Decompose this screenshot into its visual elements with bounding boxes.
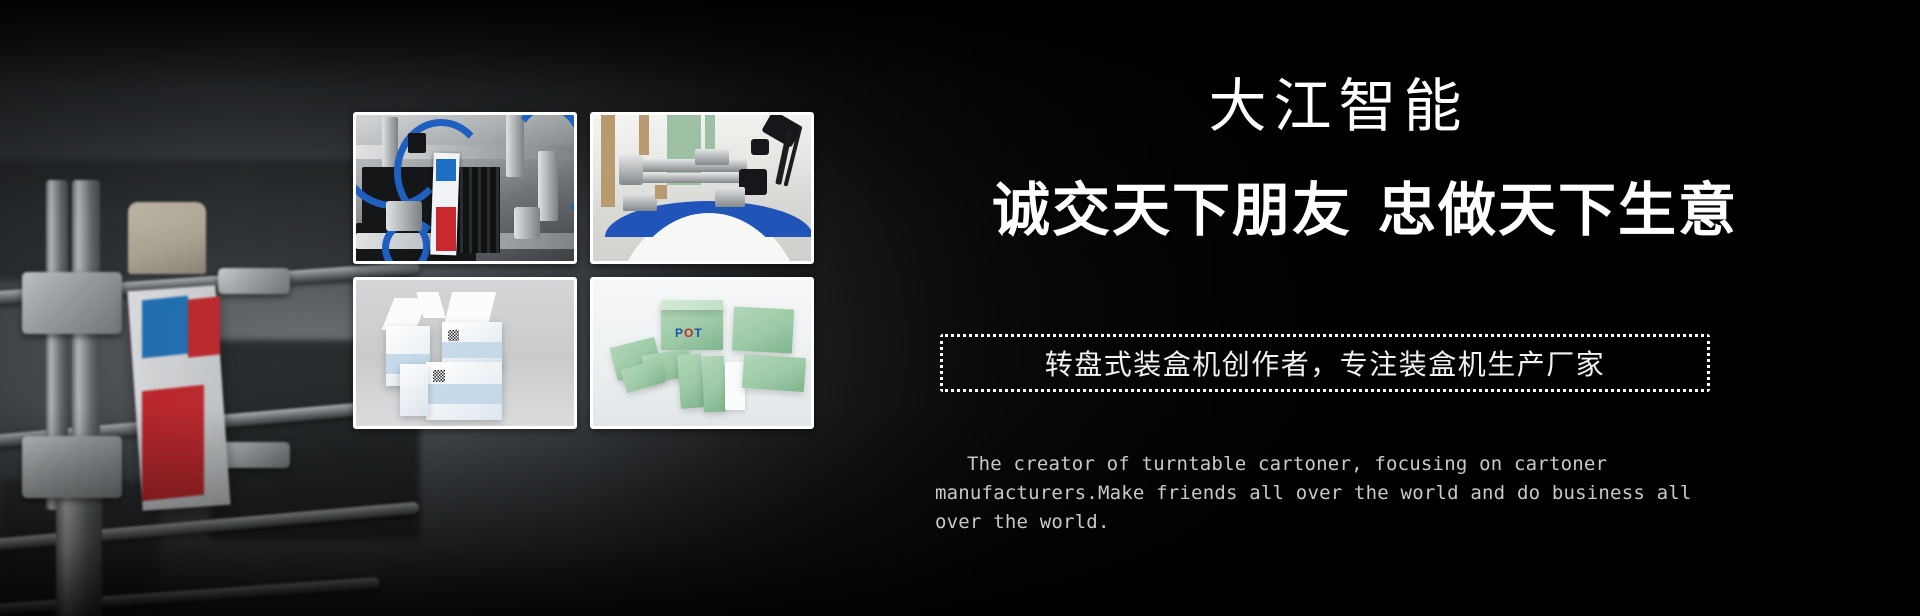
thumbnail-white-cartons[interactable] bbox=[353, 277, 577, 429]
headline-part-right: 忠做天下生意 bbox=[1378, 176, 1738, 244]
headline: 诚交天下朋友忠做天下生意 bbox=[850, 178, 1880, 243]
product-thumbnail-grid: POT bbox=[353, 112, 814, 428]
thumbnail-cartoner-machine[interactable] bbox=[353, 112, 577, 264]
tagline-dotted-box: 转盘式装盒机创作者，专注装盒机生产厂家 bbox=[940, 334, 1710, 392]
english-description: The creator of turntable cartoner, focus… bbox=[935, 450, 1725, 537]
promo-banner: POT 大江智能 诚交天下朋友忠做天下生意 转盘式装盒机创作者，专注装盒机生产厂… bbox=[0, 0, 1920, 616]
headline-part-left: 诚交天下朋友 bbox=[992, 176, 1352, 244]
banner-text-column: 大江智能 诚交天下朋友忠做天下生意 转盘式装盒机创作者，专注装盒机生产厂家 Th… bbox=[840, 0, 1920, 616]
tagline-text: 转盘式装盒机创作者，专注装盒机生产厂家 bbox=[1045, 343, 1606, 383]
thumbnail-robot-arm-turntable[interactable] bbox=[590, 112, 814, 264]
thumbnail-green-cartons[interactable]: POT bbox=[590, 277, 814, 429]
brand-title: 大江智能 bbox=[840, 78, 1830, 136]
